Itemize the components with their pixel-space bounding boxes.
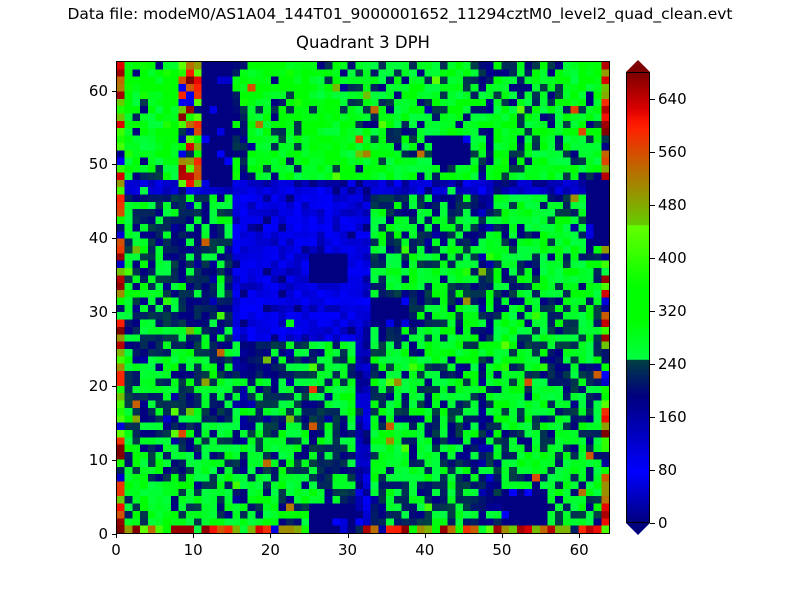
y-tick-label: 40 [70,229,108,247]
y-tick-mark [112,91,116,92]
y-tick-label: 50 [70,155,108,173]
y-tick-label: 0 [70,525,108,543]
colorbar-tick-mark [650,311,655,312]
y-tick-mark [112,386,116,387]
colorbar-over-arrow-icon [626,60,650,72]
figure-canvas: Data file: modeM0/AS1A04_144T01_90000016… [0,0,800,600]
colorbar-tick-mark [650,258,655,259]
y-tick-label: 60 [70,82,108,100]
colorbar-tick-label: 160 [658,408,687,426]
x-tick-mark [270,534,271,538]
x-tick-label: 60 [570,541,589,559]
colorbar-tick-mark [650,205,655,206]
y-tick-mark [112,312,116,313]
x-tick-label: 20 [261,541,280,559]
colorbar-tick-label: 400 [658,249,687,267]
colorbar-tick-label: 0 [658,514,668,532]
x-tick-label: 40 [415,541,434,559]
colorbar-tick-mark [650,470,655,471]
y-tick-mark [112,460,116,461]
x-tick-mark [425,534,426,538]
colorbar-tick-label: 240 [658,355,687,373]
x-tick-mark [348,534,349,538]
heatmap-image [117,62,609,533]
plot-title: Quadrant 3 DPH [116,33,610,52]
colorbar-tick-mark [650,417,655,418]
x-tick-label: 0 [111,541,121,559]
colorbar-tick-label: 560 [658,143,687,161]
colorbar-gradient [626,72,650,523]
y-tick-mark [112,238,116,239]
colorbar-tick-mark [650,523,655,524]
colorbar-tick-label: 320 [658,302,687,320]
data-file-suptitle: Data file: modeM0/AS1A04_144T01_90000016… [0,5,800,23]
colorbar-tick-label: 480 [658,196,687,214]
colorbar-tick-mark [650,99,655,100]
x-tick-mark [193,534,194,538]
colorbar-tick-mark [650,364,655,365]
x-tick-label: 10 [184,541,203,559]
y-tick-label: 10 [70,451,108,469]
colorbar-tick-label: 640 [658,90,687,108]
x-tick-mark [116,534,117,538]
x-tick-mark [579,534,580,538]
y-tick-label: 20 [70,377,108,395]
y-tick-label: 30 [70,303,108,321]
heatmap-plot-area[interactable] [116,61,610,534]
y-tick-mark [112,534,116,535]
colorbar-tick-mark [650,152,655,153]
colorbar-tick-label: 80 [658,461,677,479]
x-tick-label: 30 [338,541,357,559]
y-tick-mark [112,164,116,165]
x-tick-mark [502,534,503,538]
colorbar-under-arrow-icon [626,523,650,535]
x-tick-label: 50 [492,541,511,559]
colorbar[interactable] [626,61,650,534]
